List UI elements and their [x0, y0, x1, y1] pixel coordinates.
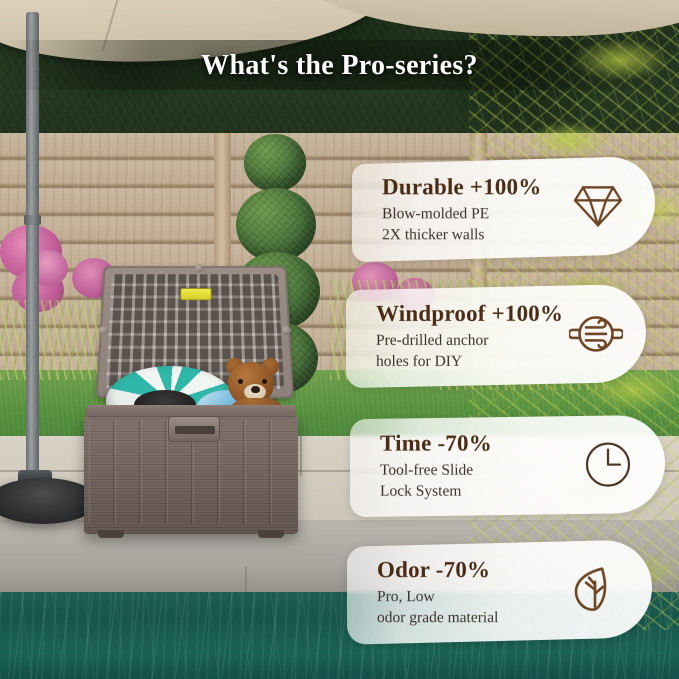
topiary-ball: [244, 134, 306, 192]
feature-title: Time -70%: [380, 431, 575, 455]
teddy-bear-nose: [251, 386, 260, 393]
clock-icon: [575, 432, 641, 498]
page-title: What's the Pro-series?: [0, 50, 679, 82]
feature-line-1: Blow-molded PE: [382, 204, 565, 225]
feature-line-1: Pro, Low: [377, 587, 562, 608]
leaf-icon: [562, 557, 628, 623]
feature-card-time[interactable]: Time -70% Tool-free Slide Lock System: [350, 415, 665, 517]
feature-card-text: Time -70% Tool-free Slide Lock System: [350, 431, 575, 502]
feature-card-odor[interactable]: Odor -70% Pro, Low odor grade material: [347, 539, 652, 644]
feature-card-windproof[interactable]: Windproof +100% Pre-drilled anchor holes…: [346, 284, 646, 388]
diamond-icon: [565, 173, 631, 239]
feature-card-text: Durable +100% Blow-molded PE 2X thicker …: [352, 175, 565, 246]
deck-box-product: [78, 262, 300, 542]
lid-latch-point: [195, 264, 204, 272]
handle-slot: [175, 426, 215, 434]
deck-box-handle: [168, 416, 220, 442]
teddy-bear-eye: [262, 379, 267, 384]
feature-title: Windproof +100%: [376, 301, 563, 325]
feature-card-text: Windproof +100% Pre-drilled anchor holes…: [346, 301, 563, 372]
feature-line-2: Lock System: [380, 481, 575, 502]
deck-box-body: [84, 414, 298, 534]
lid-hinge: [99, 326, 109, 335]
feature-line-1: Pre-drilled anchor: [376, 331, 563, 352]
feature-card-text: Odor -70% Pro, Low odor grade material: [347, 558, 562, 629]
umbrella-pole-joint: [24, 215, 41, 225]
lid-hinge: [282, 326, 292, 335]
feature-line-2: 2X thicker walls: [382, 225, 565, 246]
infographic-canvas: What's the Pro-series? Durable +100% Blo…: [0, 0, 679, 679]
feature-line-1: Tool-free Slide: [380, 460, 575, 481]
wind-circle-icon: [563, 301, 629, 367]
teddy-bear-eye: [238, 379, 243, 384]
feature-title: Odor -70%: [377, 558, 562, 582]
topiary-ball: [236, 188, 316, 262]
warning-label: [180, 288, 211, 300]
feature-card-durable[interactable]: Durable +100% Blow-molded PE 2X thicker …: [352, 156, 655, 262]
feature-line-2: odor grade material: [377, 608, 562, 629]
feature-title: Durable +100%: [382, 175, 565, 199]
deck-box-foot: [98, 530, 124, 538]
deck-box-foot: [258, 530, 284, 538]
patio-seam: [300, 436, 302, 476]
feature-line-2: holes for DIY: [376, 351, 563, 372]
